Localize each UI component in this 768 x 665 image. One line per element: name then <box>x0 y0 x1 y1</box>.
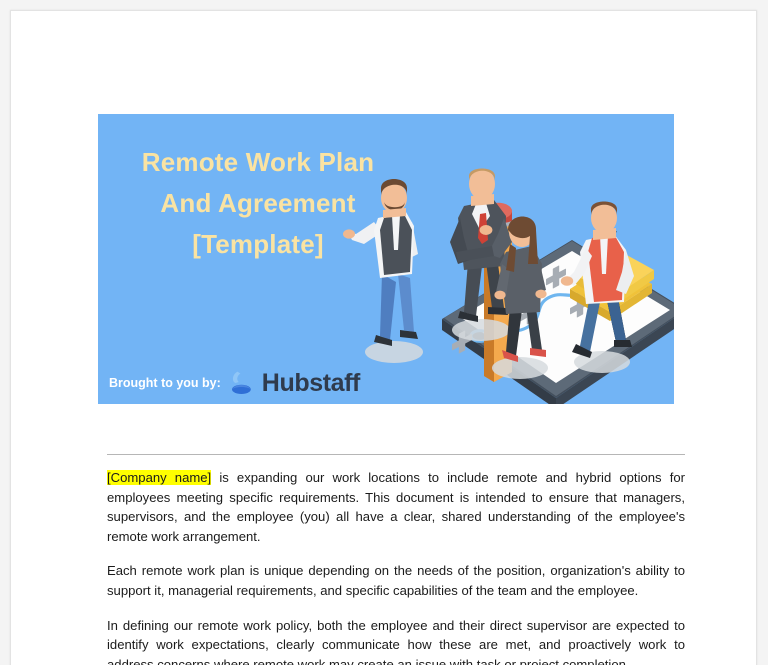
paragraph-3: In defining our remote work policy, both… <box>107 616 685 665</box>
paragraph-1: [Company name] is expanding our work loc… <box>107 468 685 546</box>
hubstaff-logo-mark-icon <box>228 370 255 396</box>
document-page: Remote Work Plan And Agreement [Template… <box>10 10 757 665</box>
banner-title-line-1: Remote Work Plan <box>108 142 408 183</box>
banner-title: Remote Work Plan And Agreement [Template… <box>108 142 408 265</box>
banner-title-line-2: And Agreement <box>108 183 408 224</box>
brought-to-you-by-label: Brought to you by: <box>109 376 221 390</box>
paragraph-2: Each remote work plan is unique dependin… <box>107 561 685 600</box>
body-copy: [Company name] is expanding our work loc… <box>107 468 685 665</box>
banner-title-line-3: [Template] <box>108 224 408 265</box>
hero-banner: Remote Work Plan And Agreement [Template… <box>98 114 674 404</box>
screenshot-root: Remote Work Plan And Agreement [Template… <box>0 0 768 665</box>
hubstaff-wordmark: Hubstaff <box>262 371 360 396</box>
brought-to-you-by-row: Brought to you by: Hubstaff <box>109 370 360 396</box>
company-name-placeholder: [Company name] <box>107 470 211 485</box>
horizontal-rule <box>107 454 685 455</box>
